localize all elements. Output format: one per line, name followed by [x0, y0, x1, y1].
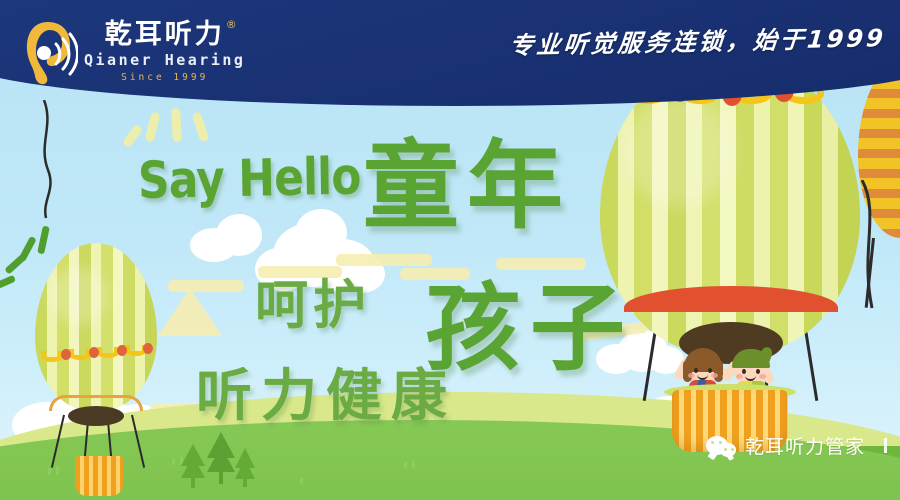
headline-tongnian: 童年 [363, 108, 571, 247]
girl-hair-side [714, 360, 723, 382]
grass-tuft [56, 466, 59, 475]
brand-logo[interactable]: 乾耳听力 ® Qianer Hearing Since 1999 [18, 16, 245, 88]
girl-eye [708, 368, 712, 373]
headline-hehu: 呵护 [255, 263, 371, 339]
wechat-icon [706, 433, 736, 459]
logo-chinese-text: 乾耳听力 [105, 19, 225, 50]
triangle-decor [158, 288, 222, 336]
balloon-garland [39, 347, 153, 369]
balloon-edge-rope [856, 180, 900, 310]
header-band: 乾耳听力 ® Qianer Hearing Since 1999 专业听觉服务连… [0, 0, 900, 112]
balloon-mouth [68, 406, 124, 426]
logo-chinese-name: 乾耳听力 ® [105, 21, 225, 48]
grass-tuft [48, 468, 51, 475]
boy-blush [736, 374, 743, 379]
girl-eye [694, 368, 698, 373]
registered-mark: ® [226, 19, 240, 30]
girl-blush [711, 373, 718, 378]
wechat-badge[interactable]: 乾耳听力管家 [706, 432, 865, 459]
sun-ray-2 [171, 108, 182, 142]
headline-say-hello: Say Hello [138, 147, 361, 211]
grass-tuft [300, 478, 303, 485]
balloon-envelope [35, 243, 157, 411]
grass-tuft [172, 458, 175, 465]
headline-haizi: 孩子 [425, 252, 635, 389]
boy-eye [756, 369, 760, 374]
hanging-string [36, 100, 66, 220]
boy-blush [759, 374, 766, 379]
wechat-divider [884, 438, 887, 453]
wechat-account-name: 乾耳听力管家 [745, 432, 865, 459]
headline-tingli-jiankang: 听力健康 [196, 351, 456, 432]
grass-tuft [412, 460, 415, 469]
girl-hair-side [683, 360, 692, 382]
boy-eye [742, 369, 746, 374]
logo-english-name: Qianer Hearing [84, 53, 245, 68]
balloon-basket [75, 456, 123, 496]
ear-sound-waves-icon [18, 16, 78, 88]
pine-tree-icon [232, 448, 258, 488]
girl-blush [688, 373, 695, 378]
promotional-banner: Say Hello 童年 呵护 孩子 听力健康 乾耳听力 ® [0, 0, 900, 500]
grass-tuft [404, 462, 407, 469]
logo-since: Since 1999 [121, 73, 208, 83]
